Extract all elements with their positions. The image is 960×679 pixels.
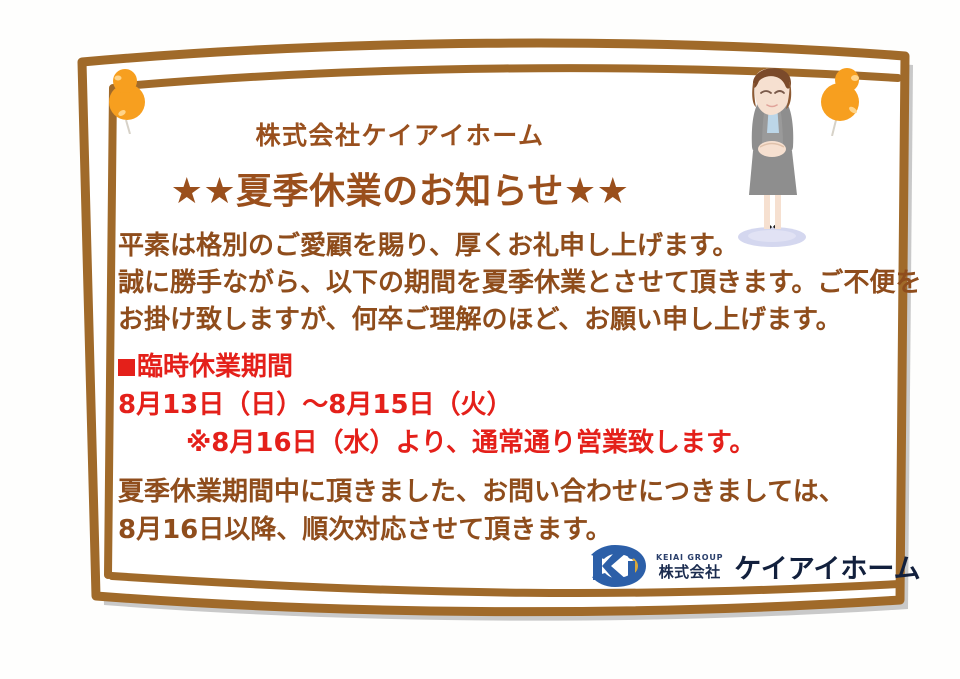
closure-period-block: 臨時休業期間 8月13日（日）～8月15日（火） ※8月16日（水）より、通常通…	[118, 348, 858, 462]
logo-kabushiki-label: 株式会社	[659, 565, 721, 580]
company-name: 株式会社ケイアイホーム	[70, 116, 730, 152]
page-title: ★★夏季休業のお知らせ★★	[70, 162, 730, 214]
greeting-line-3: お掛け致しますが、何卒ご理解のほど、お願い申し上げます。	[118, 302, 858, 339]
closure-period-note: ※8月16日（水）より、通常通り営業致します。	[118, 424, 858, 462]
holiday-notice-poster: 株式会社ケイアイホーム ★★夏季休業のお知らせ★★ 平素は格別のご愛顧を賜り、厚…	[0, 0, 960, 679]
ki-monogram-icon	[585, 543, 649, 589]
closure-period-heading-label: 臨時休業期間	[137, 352, 293, 382]
logo-english-name: KEIAI GROUP	[656, 554, 723, 562]
black-square-bullet-icon	[118, 359, 135, 376]
logo-kanji-block: KEIAI GROUP 株式会社	[656, 552, 723, 580]
push-pin-icon-right	[812, 66, 874, 136]
logo-company-name: ケイアイホーム	[734, 547, 920, 586]
greeting-line-2: 誠に勝手ながら、以下の期間を夏季休業とさせて頂きます。ご不便を	[118, 265, 858, 302]
closure-period-heading: 臨時休業期間	[118, 348, 858, 386]
closing-block: 夏季休業期間中に頂きました、お問い合わせにつきましては、 8月16日以降、順次対…	[118, 473, 878, 549]
push-pin-icon-left	[100, 68, 156, 134]
closing-line-1: 夏季休業期間中に頂きました、お問い合わせにつきましては、	[118, 473, 878, 511]
closure-period-dates: 8月13日（日）～8月15日（火）	[118, 386, 858, 424]
company-logo: KEIAI GROUP 株式会社 ケイアイホーム	[585, 540, 875, 592]
